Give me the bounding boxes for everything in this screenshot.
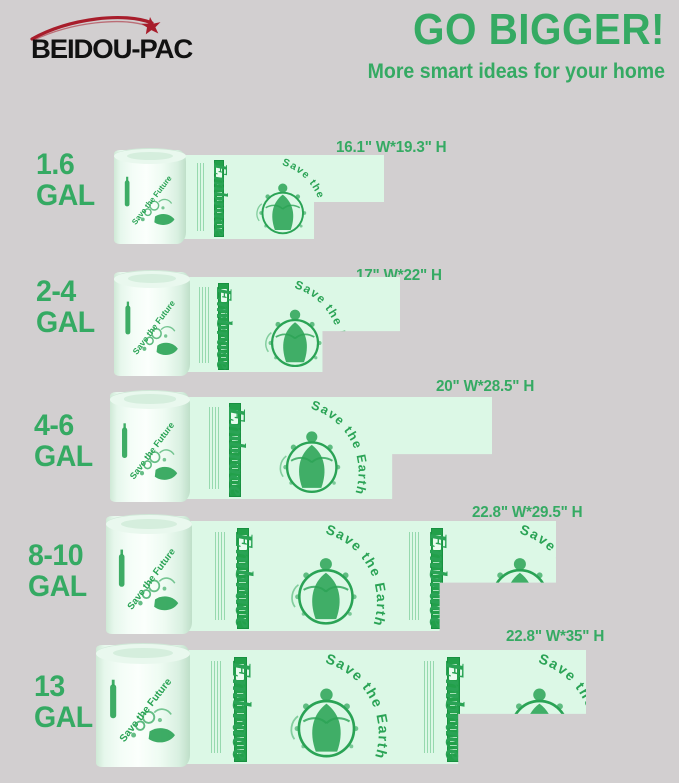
roll-core-hole bbox=[127, 152, 173, 160]
svg-text:Save the Earth: Save the Earth bbox=[310, 399, 371, 497]
svg-text:Save the Future: Save the Future bbox=[131, 298, 177, 356]
embrace-text: Embrace bbox=[439, 661, 470, 761]
bag-roll: Save the Future bbox=[110, 392, 190, 502]
print-motif: EmbraceSave the Earth bbox=[215, 521, 441, 631]
roll-core-hole bbox=[128, 274, 177, 283]
microtext-lines bbox=[209, 407, 219, 489]
globe-artwork bbox=[272, 421, 352, 499]
roll-print-artwork: Save the Future bbox=[110, 392, 190, 502]
save-the-earth-arc: Save the Earth bbox=[497, 523, 556, 631]
green-label-bar bbox=[214, 160, 224, 237]
dimension-label: 17" W*22" H bbox=[356, 267, 442, 285]
microtext-lines bbox=[215, 532, 226, 620]
roll-print-artwork: Save the Future bbox=[96, 645, 190, 767]
roll-top-rim bbox=[114, 270, 190, 288]
page-subtitle: More smart ideas for your home bbox=[274, 61, 665, 82]
green-label-bar bbox=[229, 403, 241, 497]
save-the-earth-arc: Save the Earth bbox=[303, 523, 419, 631]
save-the-earth-arc: Save the Earth bbox=[275, 279, 375, 372]
svg-text:Save the Earth: Save the Earth bbox=[293, 279, 350, 370]
roll-top-rim bbox=[106, 514, 192, 534]
size-label: 8-10GAL bbox=[28, 541, 87, 602]
print-motif: EmbraceSave the Earth bbox=[211, 650, 445, 764]
size-unit: GAL bbox=[36, 308, 95, 339]
roll-top-rim bbox=[96, 643, 190, 664]
header: BEIDOU-PAC GO BIGGER! More smart ideas f… bbox=[0, 0, 679, 118]
roll-body bbox=[114, 272, 190, 376]
microtext-lines bbox=[409, 532, 420, 620]
page-title: GO BIGGER! bbox=[279, 8, 665, 52]
bag-roll: Save the Future bbox=[106, 516, 192, 634]
embrace-text: Embrace bbox=[423, 532, 453, 628]
svg-text:Save the Earth: Save the Earth bbox=[537, 652, 586, 762]
size-label: 4-6GAL bbox=[34, 411, 93, 472]
roll-top-rim bbox=[114, 148, 186, 164]
roll-print-artwork: Save the Future bbox=[106, 516, 192, 634]
roll-print-artwork: Save the Future bbox=[114, 150, 186, 244]
size-capacity: 4-6 bbox=[34, 411, 93, 442]
print-motif: EmbraceSave the Earth bbox=[409, 521, 556, 631]
green-label-bar bbox=[431, 528, 444, 629]
size-capacity: 8-10 bbox=[28, 541, 87, 572]
svg-text:Save the Earth: Save the Earth bbox=[518, 523, 556, 629]
svg-text:Save the Future: Save the Future bbox=[126, 546, 178, 612]
size-label: 2-4GAL bbox=[36, 277, 95, 338]
size-capacity: 13 bbox=[34, 672, 93, 703]
size-unit: GAL bbox=[28, 572, 87, 603]
bag-roll: Save the Future bbox=[114, 272, 190, 376]
save-the-earth-arc: Save the Earth bbox=[290, 399, 397, 499]
globe-artwork bbox=[250, 175, 316, 239]
title-block: GO BIGGER! More smart ideas for your hom… bbox=[245, 8, 665, 82]
dimension-label: 16.1" W*19.3" H bbox=[336, 139, 446, 157]
bag-sheet: EmbraceSave the EarthEmbraceSave the Ear… bbox=[168, 521, 556, 631]
sheet-print-area: EmbraceSave the EarthEmbraceSave the Ear… bbox=[160, 650, 586, 764]
green-label-bar bbox=[218, 283, 229, 370]
size-label: 13GAL bbox=[34, 672, 93, 733]
save-the-earth-arc: Save the Earth bbox=[302, 652, 422, 764]
brand-logo: BEIDOU-PAC bbox=[30, 14, 230, 62]
embrace-text: Embrace bbox=[208, 163, 231, 236]
roll-core-hole bbox=[124, 394, 175, 403]
size-label: 1.6GAL bbox=[36, 150, 95, 211]
microtext-lines bbox=[424, 661, 435, 752]
dimension-label: 22.8" W*29.5" H bbox=[472, 504, 582, 522]
roll-print-artwork: Save the Future bbox=[114, 272, 190, 376]
print-motif: EmbraceSave the Earth bbox=[209, 397, 418, 499]
dimension-label: 20" W*28.5" H bbox=[436, 378, 534, 396]
embrace-text: Embrace bbox=[226, 661, 257, 761]
roll-body bbox=[110, 392, 190, 502]
sheet-print-area: EmbraceSave the Earth bbox=[172, 277, 400, 372]
save-the-earth-arc: Save the Earth bbox=[265, 157, 353, 239]
embrace-text: Embrace bbox=[229, 532, 259, 628]
roll-body bbox=[96, 645, 190, 767]
roll-top-rim bbox=[110, 390, 190, 409]
bag-sheet: EmbraceSave the Earth bbox=[170, 397, 492, 499]
infographic-page: BEIDOU-PAC GO BIGGER! More smart ideas f… bbox=[0, 0, 679, 783]
logo-wordmark: BEIDOU-PAC bbox=[31, 34, 192, 65]
globe-artwork bbox=[477, 547, 556, 631]
microtext-lines bbox=[199, 287, 209, 363]
globe-artwork bbox=[258, 300, 332, 372]
save-the-earth-arc: Save the Earth bbox=[515, 652, 586, 764]
svg-text:Save the Future: Save the Future bbox=[130, 173, 174, 226]
dimension-label: 22.8" W*35" H bbox=[506, 628, 604, 646]
roll-core-hole bbox=[121, 519, 176, 529]
size-unit: GAL bbox=[36, 181, 95, 212]
size-capacity: 1.6 bbox=[36, 150, 95, 181]
green-label-bar bbox=[237, 528, 250, 629]
globe-artwork bbox=[495, 677, 584, 764]
svg-text:Save the Earth: Save the Earth bbox=[324, 523, 389, 629]
print-motif: EmbraceSave the Earth bbox=[199, 277, 394, 372]
bag-roll: Save the Future bbox=[96, 645, 190, 767]
roll-body bbox=[114, 150, 186, 244]
svg-text:Save the Earth: Save the Earth bbox=[280, 157, 330, 238]
size-unit: GAL bbox=[34, 442, 93, 473]
sheet-print-area: EmbraceSave the EarthEmbraceSave the Ear… bbox=[168, 521, 556, 631]
roll-body bbox=[106, 516, 192, 634]
svg-text:Save the Earth: Save the Earth bbox=[324, 652, 391, 762]
bag-sheet: EmbraceSave the EarthEmbraceSave the Ear… bbox=[160, 650, 586, 764]
size-capacity: 2-4 bbox=[36, 277, 95, 308]
print-motif: EmbraceSave the Earth bbox=[197, 155, 369, 239]
svg-text:Save the Future: Save the Future bbox=[118, 676, 175, 744]
bag-sheet: EmbraceSave the Earth bbox=[172, 155, 384, 239]
sheet-print-area: EmbraceSave the Earth bbox=[172, 155, 384, 239]
svg-text:Save the Future: Save the Future bbox=[128, 420, 176, 481]
print-motif: EmbraceSave the Earth bbox=[424, 650, 586, 764]
green-label-bar bbox=[447, 657, 460, 762]
microtext-lines bbox=[197, 163, 205, 230]
globe-artwork bbox=[282, 677, 371, 764]
roll-core-hole bbox=[113, 648, 173, 658]
bag-sheet: EmbraceSave the Earth bbox=[172, 277, 400, 372]
globe-artwork bbox=[283, 547, 369, 631]
microtext-lines bbox=[211, 661, 222, 752]
embrace-text: Embrace bbox=[211, 287, 237, 370]
size-unit: GAL bbox=[34, 703, 93, 734]
sheet-print-area: EmbraceSave the Earth bbox=[170, 397, 492, 499]
green-label-bar bbox=[234, 657, 247, 762]
bag-roll: Save the Future bbox=[114, 150, 186, 244]
embrace-text: Embrace bbox=[222, 407, 249, 496]
